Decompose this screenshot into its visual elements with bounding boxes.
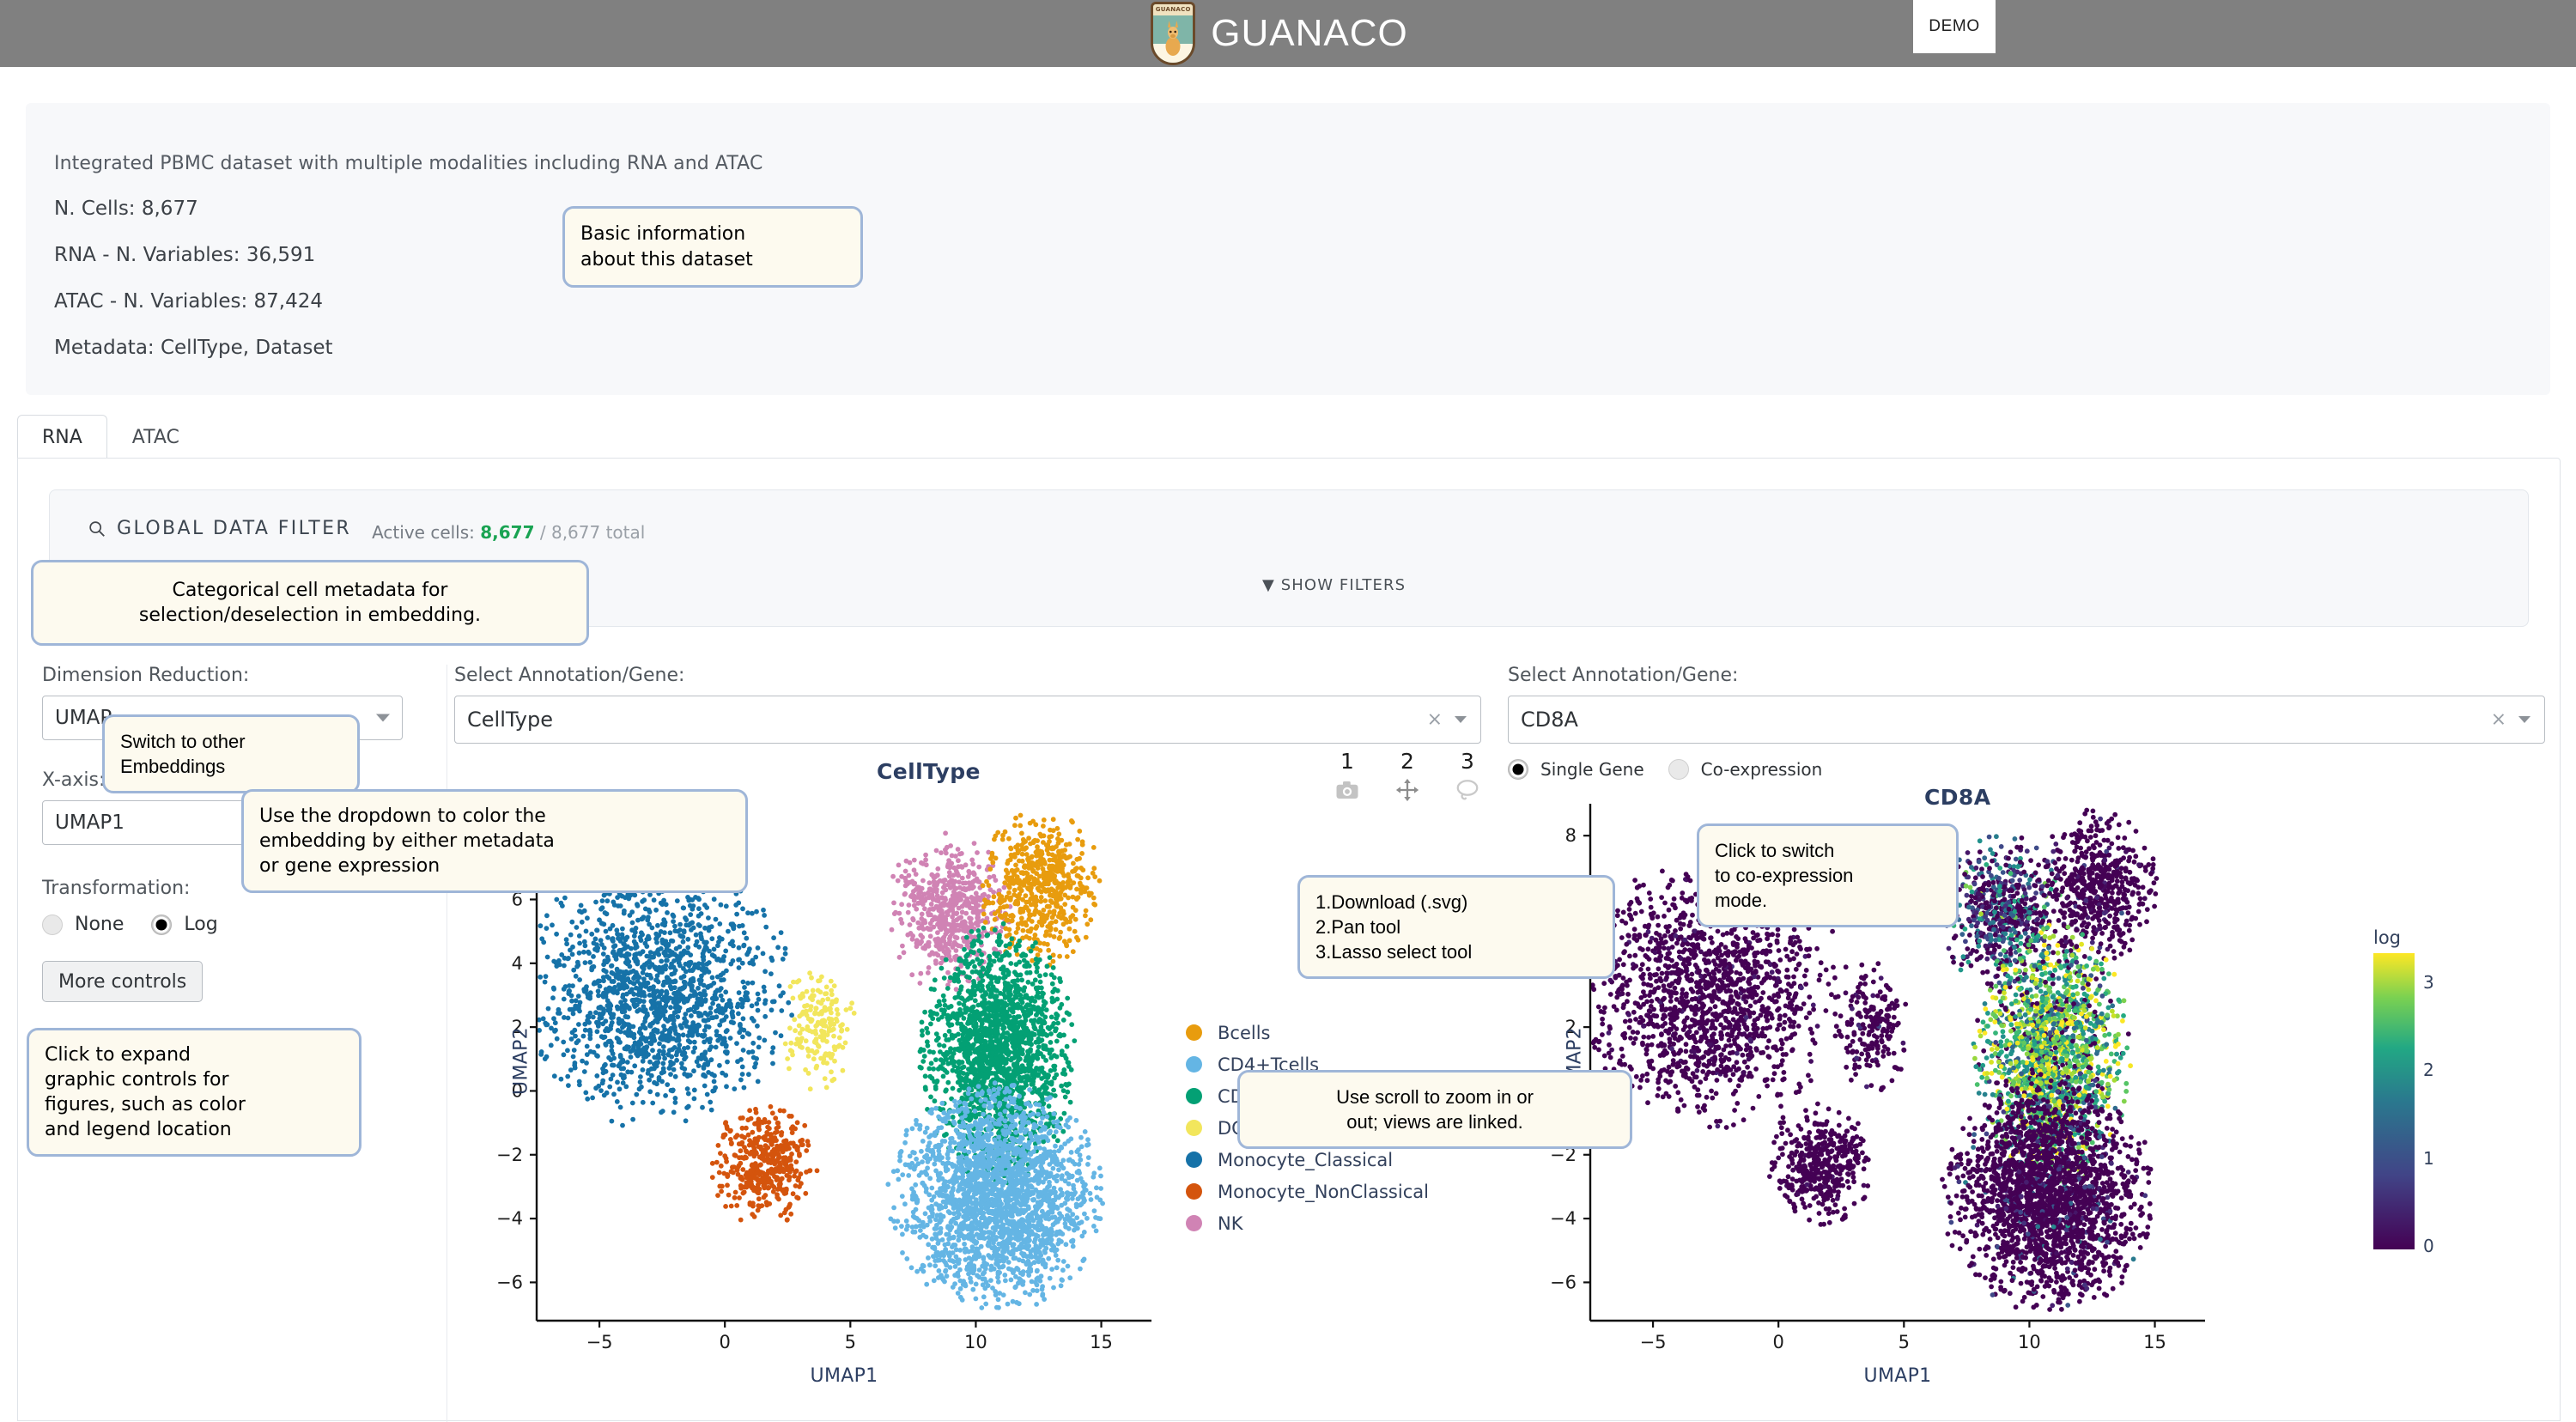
x-tick-label: 10 — [2018, 1332, 2041, 1352]
radio-single-gene-label: Single Gene — [1540, 759, 1644, 780]
chevron-down-icon — [1455, 716, 1467, 723]
transformation-label: Transformation: — [42, 878, 190, 899]
plot-toolbar: 1 2 3 — [1330, 750, 1485, 803]
demo-badge[interactable]: DEMO — [1913, 0, 1996, 53]
y-tick-label: 4 — [512, 953, 523, 974]
legend-item[interactable]: NK — [1186, 1207, 1429, 1239]
logo-label: GUANACO — [1153, 4, 1193, 15]
dataset-stats: N. Cells: 8,677 RNA - N. Variables: 36,5… — [54, 197, 332, 383]
dataset-description: Integrated PBMC dataset with multiple mo… — [54, 153, 762, 174]
clear-icon[interactable]: × — [1427, 709, 1443, 731]
lasso-select-icon[interactable] — [1455, 777, 1480, 803]
x-tick-label: 0 — [719, 1332, 730, 1352]
cd8a-x-axis-label: UMAP1 — [1590, 1365, 2205, 1387]
stat-rna-vars: RNA - N. Variables: 36,591 — [54, 244, 332, 266]
x-tick-label: 5 — [845, 1332, 856, 1352]
x-tick-label: 10 — [964, 1332, 987, 1352]
tab-atac[interactable]: ATAC — [107, 415, 204, 459]
mid-annotation-gene-value: CellType — [467, 708, 553, 732]
camera-icon[interactable] — [1334, 777, 1360, 803]
mid-annotation-gene-select[interactable]: CellType × — [454, 696, 1481, 744]
radio-co-expression-label: Co-expression — [1701, 759, 1823, 780]
global-filter-header: GLOBAL DATA FILTER Active cells: 8,677 /… — [88, 518, 645, 543]
colorbar-title: log — [2373, 927, 2401, 948]
cd8a-plot-column: Select Annotation/Gene: CD8A × Single Ge… — [1499, 665, 2561, 1422]
legend-color-swatch — [1186, 1215, 1202, 1231]
celltype-x-axis-label: UMAP1 — [537, 1365, 1151, 1387]
radio-single-gene[interactable] — [1508, 759, 1528, 780]
radio-transformation-log-label: Log — [184, 914, 217, 935]
active-cells-value: 8,677 — [480, 522, 534, 543]
callout-dataset-info: Basic information about this dataset — [562, 206, 863, 288]
callout-scroll-zoom: Use scroll to zoom in or out; views are … — [1237, 1070, 1632, 1149]
clear-icon[interactable]: × — [2491, 709, 2506, 731]
x-tick-label: −5 — [1640, 1332, 1667, 1352]
callout-metadata-filter: Categorical cell metadata for selection/… — [31, 560, 589, 646]
y-tick-label: 8 — [1565, 825, 1577, 846]
modality-tabs: RNA ATAC — [17, 414, 2559, 459]
x-axis-label: X-axis: — [42, 769, 105, 791]
x-tick-label: 0 — [1772, 1332, 1783, 1352]
legend-color-swatch — [1186, 1152, 1202, 1168]
chevron-down-icon — [2518, 716, 2530, 723]
right-select-label: Select Annotation/Gene: — [1508, 665, 1738, 686]
global-filter-title: GLOBAL DATA FILTER — [117, 518, 351, 539]
colorbar-tick: 2 — [2423, 1060, 2434, 1080]
colorbar-gradient — [2373, 953, 2415, 1249]
legend-color-swatch — [1186, 1024, 1202, 1041]
colorbar-tick: 3 — [2423, 972, 2434, 993]
callout-switch-embeddings: Switch to other Embeddings — [102, 714, 360, 793]
callout-graphic-controls: Click to expand graphic controls for fig… — [27, 1028, 361, 1157]
callout-toolbar-tools: 1.Download (.svg) 2.Pan tool 3.Lasso sel… — [1297, 875, 1615, 979]
dataset-info-card: Integrated PBMC dataset with multiple mo… — [26, 103, 2550, 395]
callout-dropdown-color: Use the dropdown to color the embedding … — [241, 789, 748, 893]
legend-item[interactable]: Monocyte_NonClassical — [1186, 1176, 1429, 1207]
x-tick-label: 5 — [1899, 1332, 1910, 1352]
stat-metadata: Metadata: CellType, Dataset — [54, 337, 332, 359]
x-tick-label: 15 — [1090, 1332, 1113, 1352]
app-header: GUANACO GUANACO DEMO — [0, 0, 2576, 67]
radio-co-expression[interactable] — [1668, 759, 1689, 780]
legend-label: Monocyte_Classical — [1218, 1150, 1393, 1170]
x-tick-label: 15 — [2143, 1332, 2166, 1352]
total-cells-value: / 8,677 total — [540, 522, 645, 543]
y-tick-label: −6 — [496, 1272, 523, 1292]
toolbar-download[interactable]: 1 — [1330, 750, 1364, 803]
right-annotation-gene-value: CD8A — [1521, 708, 1578, 732]
active-cells-count: Active cells: 8,677 / 8,677 total — [372, 522, 645, 543]
colorbar-tick: 1 — [2423, 1148, 2434, 1169]
callout-coexpression-mode: Click to switch to co-expression mode. — [1697, 823, 1959, 927]
transformation-radio-group: None Log — [42, 914, 218, 935]
toolbar-pan[interactable]: 2 — [1390, 750, 1425, 803]
legend-color-swatch — [1186, 1120, 1202, 1136]
toolbar-lasso[interactable]: 3 — [1450, 750, 1485, 803]
chevron-down-icon — [376, 714, 390, 722]
gene-mode-radio-group: Single Gene Co-expression — [1508, 759, 1822, 780]
legend-color-swatch — [1186, 1088, 1202, 1104]
legend-color-swatch — [1186, 1056, 1202, 1073]
dim-reduction-label: Dimension Reduction: — [42, 665, 249, 686]
radio-transformation-none[interactable] — [42, 915, 63, 935]
more-controls-button[interactable]: More controls — [42, 961, 203, 1002]
celltype-plot-column: Select Annotation/Gene: CellType × CellT… — [447, 665, 1499, 1422]
y-tick-label: −6 — [1550, 1272, 1577, 1292]
global-filter-title-wrap: GLOBAL DATA FILTER — [88, 518, 351, 539]
legend-color-swatch — [1186, 1183, 1202, 1200]
tab-rna[interactable]: RNA — [17, 415, 107, 459]
celltype-y-axis-label: UMAP2 — [511, 1010, 532, 1113]
page-title: GUANACO — [1211, 12, 1407, 55]
radio-transformation-log[interactable] — [151, 915, 172, 935]
x-axis-value: UMAP1 — [55, 811, 125, 834]
right-annotation-gene-select[interactable]: CD8A × — [1508, 696, 2545, 744]
x-tick-label: −5 — [586, 1332, 613, 1352]
radio-transformation-none-label: None — [75, 914, 124, 935]
stat-atac-vars: ATAC - N. Variables: 87,424 — [54, 290, 332, 313]
search-icon — [88, 520, 106, 538]
toolbar-num-1: 1 — [1340, 750, 1354, 772]
active-cells-prefix: Active cells: — [372, 522, 475, 543]
colorbar-tick: 0 — [2423, 1236, 2434, 1256]
mid-select-label: Select Annotation/Gene: — [454, 665, 684, 686]
stat-n-cells: N. Cells: 8,677 — [54, 197, 332, 220]
y-tick-label: −4 — [1550, 1208, 1577, 1229]
celltype-plot-title: CellType — [877, 759, 981, 784]
y-tick-label: −4 — [496, 1208, 523, 1229]
pan-move-icon[interactable] — [1394, 777, 1420, 803]
legend-item[interactable]: Bcells — [1186, 1017, 1429, 1048]
toolbar-num-3: 3 — [1461, 750, 1474, 772]
legend-label: Monocyte_NonClassical — [1218, 1182, 1429, 1202]
toolbar-num-2: 2 — [1400, 750, 1414, 772]
main-panel: GLOBAL DATA FILTER Active cells: 8,677 /… — [17, 458, 2561, 1421]
llama-glyph-icon — [1160, 18, 1186, 58]
legend-label: NK — [1218, 1213, 1242, 1234]
guanaco-logo-icon: GUANACO — [1151, 2, 1195, 65]
y-tick-label: −2 — [496, 1145, 523, 1165]
brand: GUANACO GUANACO — [1151, 2, 1407, 65]
show-filters-toggle[interactable]: ▼ SHOW FILTERS — [1262, 576, 1406, 594]
legend-label: Bcells — [1218, 1023, 1270, 1043]
